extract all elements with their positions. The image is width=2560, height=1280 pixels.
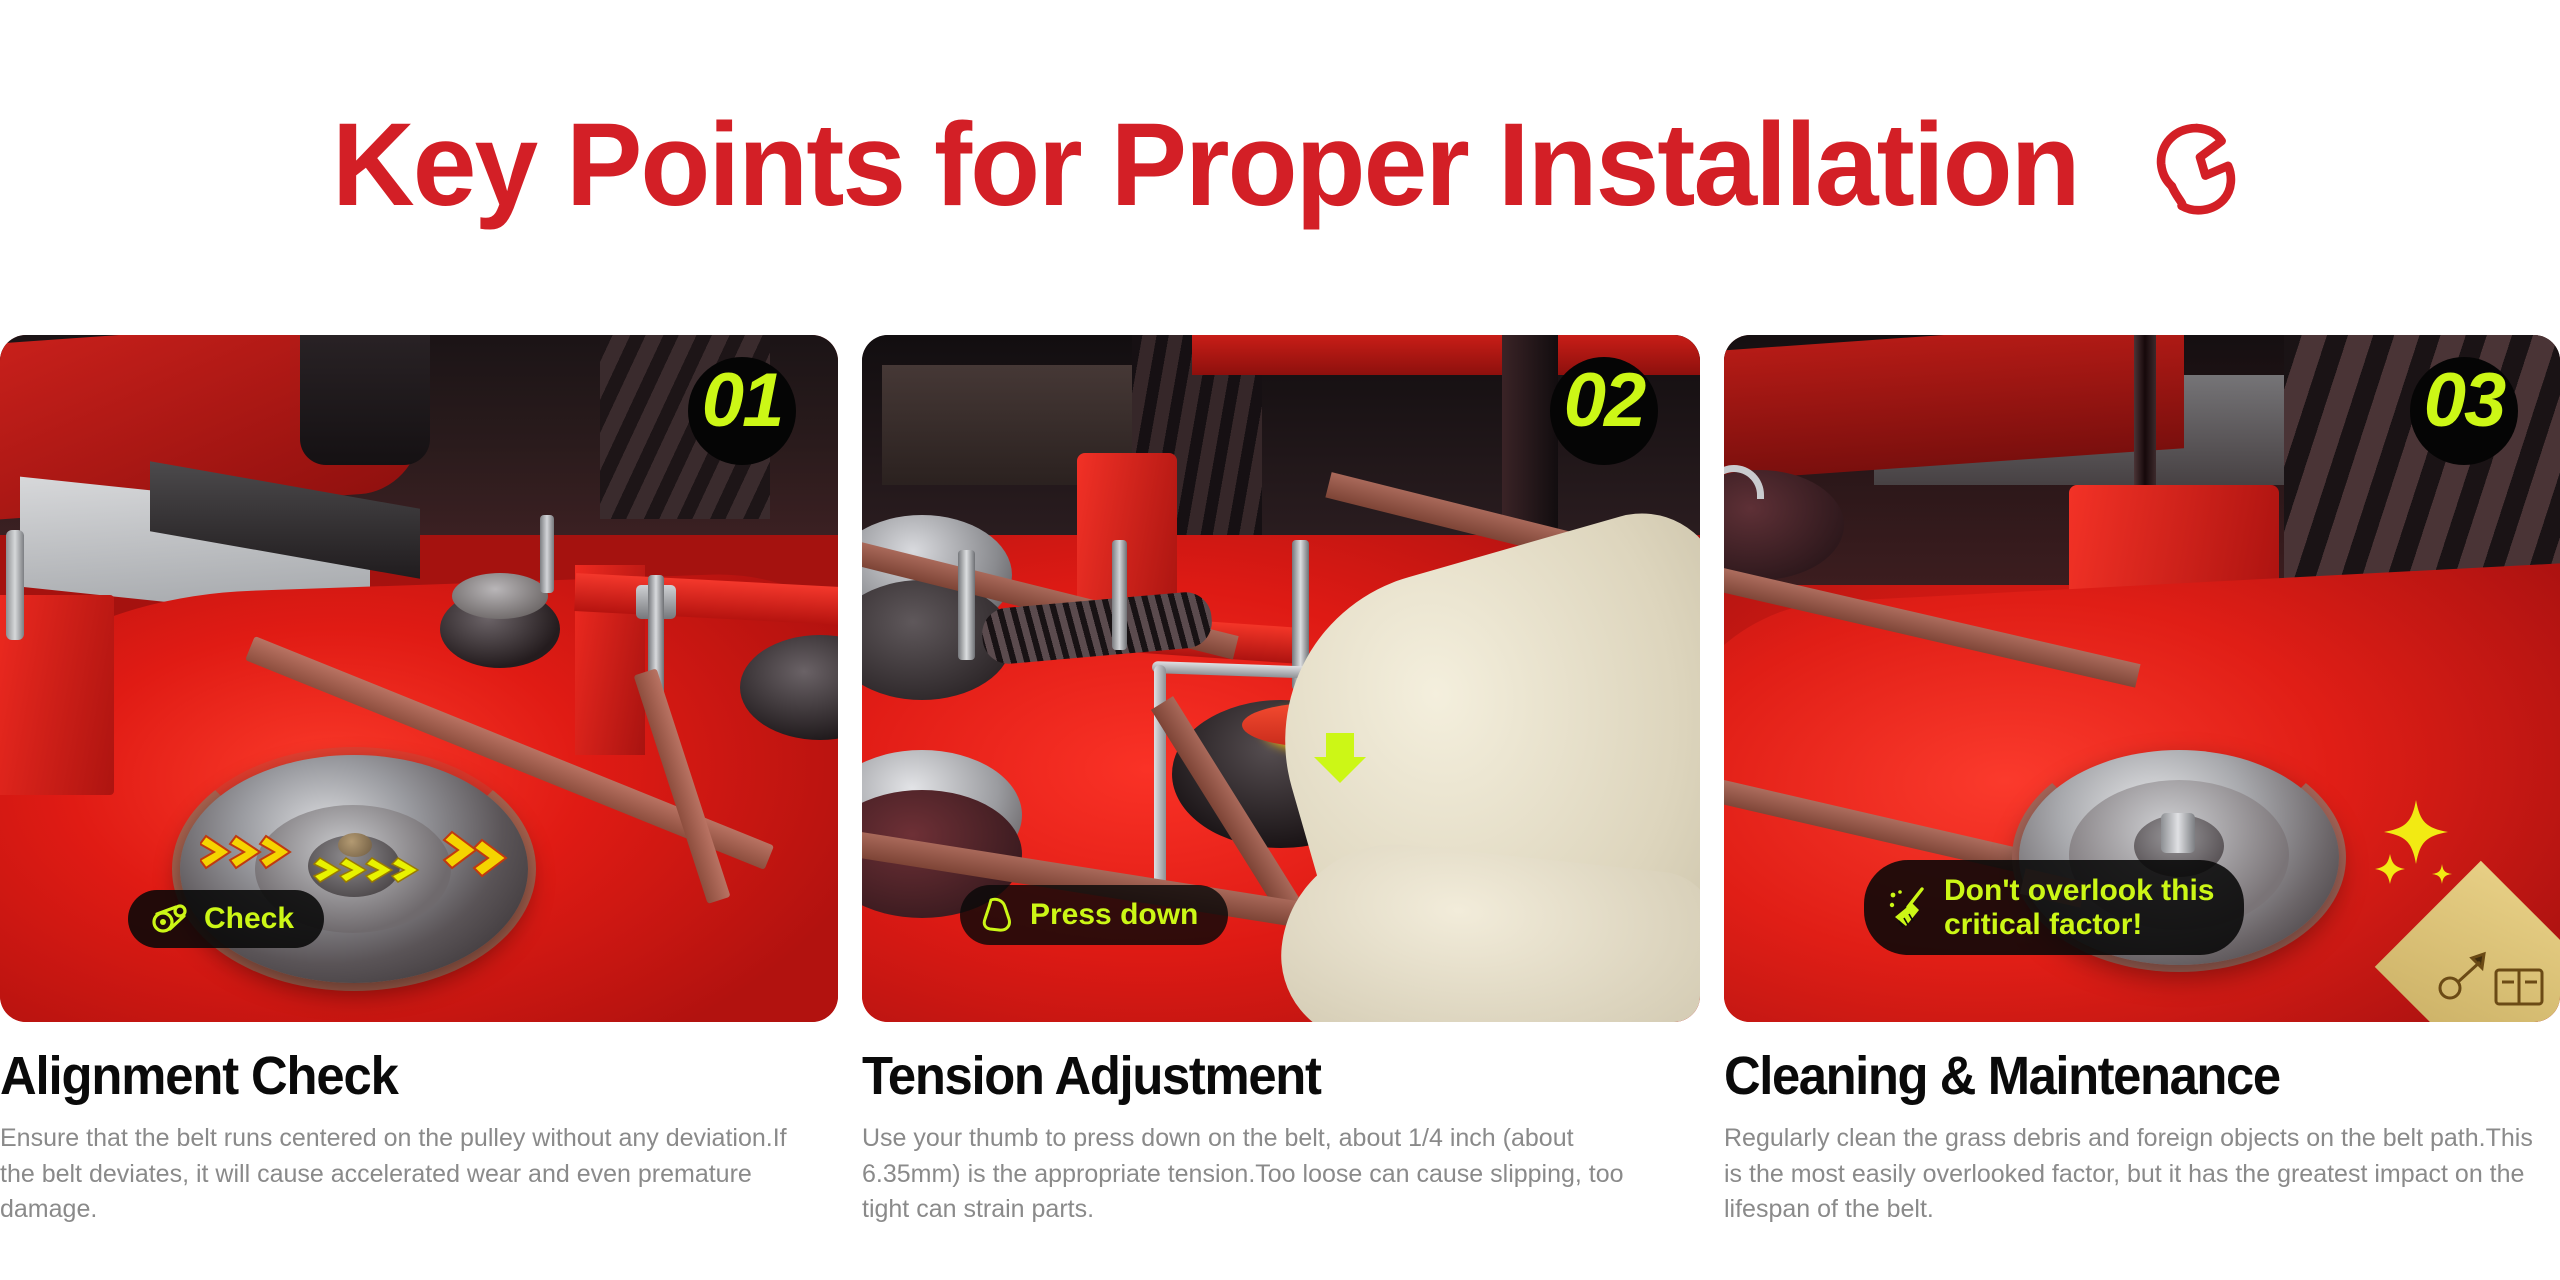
page-title: Key Points for Proper Installation <box>332 97 2079 233</box>
card-title: Alignment Check <box>0 1048 788 1105</box>
card-grid: 01 Check Alignment Check Ensure th <box>0 335 2560 1280</box>
pill-check: Check <box>128 890 324 948</box>
pulley-belt-icon <box>150 903 190 935</box>
pill-press-down: Press down <box>960 885 1228 945</box>
card-alignment-check[interactable]: 01 Check Alignment Check Ensure th <box>0 335 838 1228</box>
photo-cleaning-maintenance: 03 Don't overlook th <box>1724 335 2560 1022</box>
step-number-badge: 02 <box>1550 357 1658 465</box>
pill-label: Press down <box>1030 898 1198 932</box>
photo-tension-adjustment: 02 Press down <box>862 335 1700 1022</box>
card-body: Regularly clean the grass debris and for… <box>1724 1121 2534 1228</box>
card-cleaning-maintenance[interactable]: 03 Don't overlook th <box>1724 335 2560 1228</box>
wrench-swirl-icon <box>2145 113 2255 223</box>
step-number-badge: 01 <box>688 357 796 465</box>
card-body: Use your thumb to press down on the belt… <box>862 1121 1672 1228</box>
page-header: Key Points for Proper Installation <box>0 0 2560 330</box>
pill-label: Don't overlook this critical factor! <box>1944 874 2214 941</box>
card-tension-adjustment[interactable]: 02 Press down Tension Adjustment Use you… <box>862 335 1700 1228</box>
page-root: Key Points for Proper Installation <box>0 0 2560 1280</box>
warning-sticker-icon <box>2430 936 2550 1016</box>
press-down-arrow-icon <box>1314 733 1366 783</box>
step-number: 01 <box>702 363 783 439</box>
card-title: Cleaning & Maintenance <box>1724 1048 2510 1105</box>
step-number: 03 <box>2424 363 2505 439</box>
hand-press-icon <box>982 897 1016 933</box>
pill-dont-overlook: Don't overlook this critical factor! <box>1864 860 2244 955</box>
card-title: Tension Adjustment <box>862 1048 1650 1105</box>
pill-label: Check <box>204 902 294 936</box>
sparkle-icon <box>2364 790 2474 900</box>
step-number: 02 <box>1564 363 1645 439</box>
card-body: Ensure that the belt runs centered on th… <box>0 1121 810 1228</box>
photo-alignment-check: 01 Check <box>0 335 838 1022</box>
step-number-badge: 03 <box>2410 357 2518 465</box>
broom-icon <box>1886 886 1930 930</box>
